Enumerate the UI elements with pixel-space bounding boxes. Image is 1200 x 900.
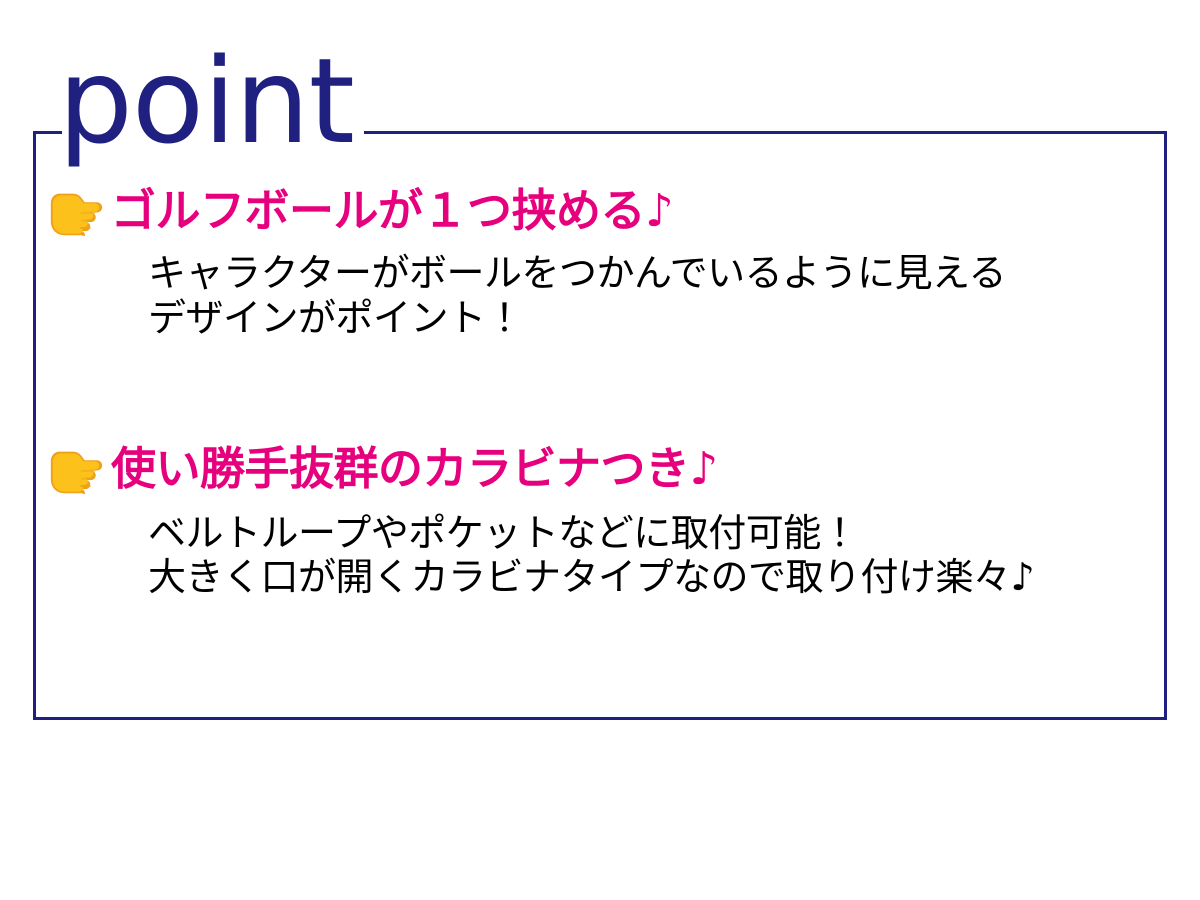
point-body: キャラクターがボールをつかんでいるように見える デザインがポイント！: [148, 251, 1167, 341]
slide-canvas: point ゴルフボールが１つ挟める♪ キャラクターがボールをつかんでいるように…: [0, 0, 1200, 900]
point-heading-row: 使い勝手抜群のカラビナつき♪: [33, 443, 1167, 495]
point-body: ベルトループやポケットなどに取付可能！ 大きく口が開くカラビナタイプなので取り付…: [148, 511, 1167, 601]
pointing-right-hand-icon: [45, 185, 107, 237]
pointing-right-hand-icon: [45, 443, 107, 495]
point-item: 使い勝手抜群のカラビナつき♪ ベルトループやポケットなどに取付可能！ 大きく口が…: [33, 443, 1167, 601]
point-item: ゴルフボールが１つ挟める♪ キャラクターがボールをつかんでいるように見える デザ…: [33, 185, 1167, 341]
point-heading: 使い勝手抜群のカラビナつき♪: [111, 445, 718, 492]
point-heading: ゴルフボールが１つ挟める♪: [111, 187, 673, 234]
page-title: point: [58, 42, 354, 160]
point-heading-row: ゴルフボールが１つ挟める♪: [33, 185, 1167, 237]
point-list: ゴルフボールが１つ挟める♪ キャラクターがボールをつかんでいるように見える デザ…: [33, 131, 1167, 720]
